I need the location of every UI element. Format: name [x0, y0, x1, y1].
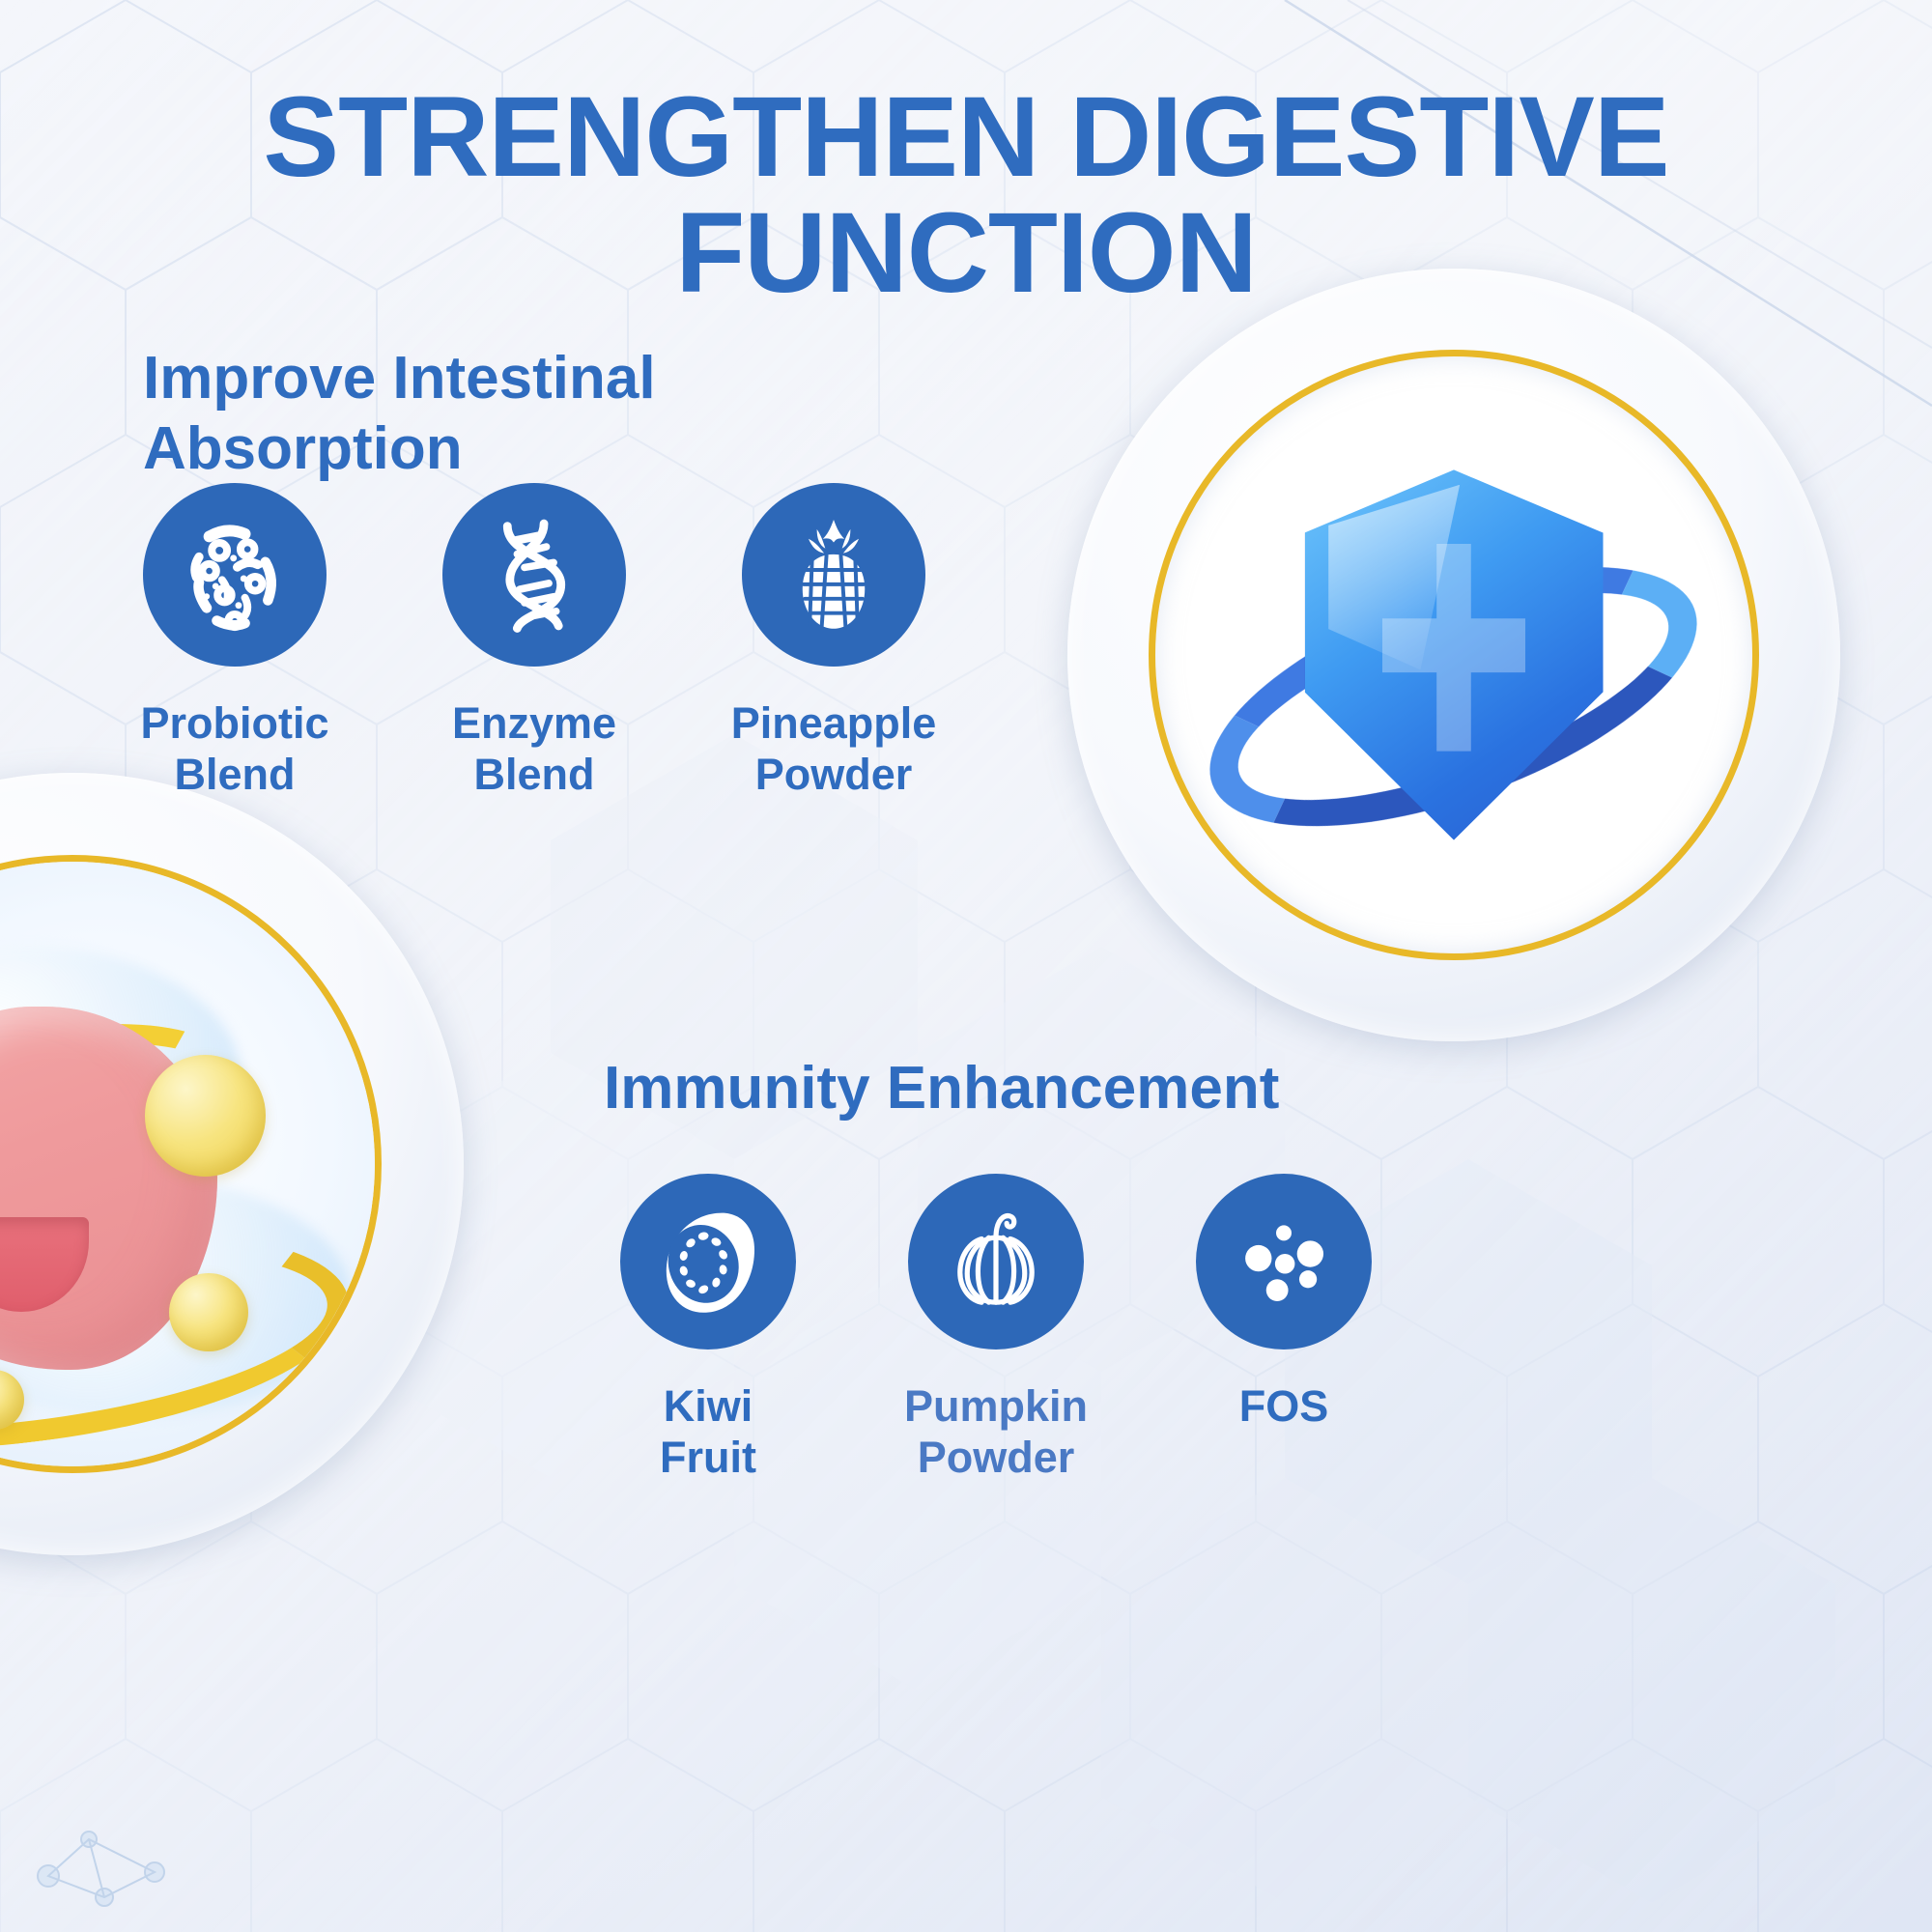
kiwi-fruit-icon [620, 1174, 796, 1350]
medallion-inner-disc [0, 855, 382, 1473]
softgel-capsule [169, 1273, 247, 1351]
ingredient-label: Enzyme Blend [452, 697, 616, 800]
ingredient-row-absorption: Probiotic Blend Enzyme Blend [140, 483, 928, 800]
ingredient-label: Probiotic Blend [140, 697, 328, 800]
pumpkin-icon [908, 1174, 1084, 1350]
molecule-decoration-icon [19, 1770, 203, 1915]
section-heading-absorption: Improve Intestinal Absorption [143, 343, 656, 484]
ingredient-label: FOS [1239, 1380, 1329, 1432]
pineapple-icon [742, 483, 925, 667]
ingredient-pumpkin-powder[interactable]: Pumpkin Powder [901, 1174, 1091, 1483]
probiotic-bacteria-icon [143, 483, 327, 667]
ingredient-enzyme-blend[interactable]: Enzyme Blend [440, 483, 629, 800]
ingredient-row-immunity: Kiwi Fruit Pumpkin Powder [613, 1174, 1378, 1483]
molecule-dots-icon [1196, 1174, 1372, 1350]
ingredient-pineapple-powder[interactable]: Pineapple Powder [739, 483, 928, 800]
page-title: STRENGTHEN DIGESTIVE FUNCTION [0, 79, 1932, 312]
ingredient-kiwi-fruit[interactable]: Kiwi Fruit [613, 1174, 803, 1483]
immunity-shield-medallion [1067, 269, 1840, 1041]
ingredient-probiotic-blend[interactable]: Probiotic Blend [140, 483, 329, 800]
ingredient-fos[interactable]: FOS [1189, 1174, 1378, 1483]
stomach-artwork [0, 862, 375, 1466]
ingredient-label: Kiwi Fruit [660, 1380, 756, 1483]
ingredient-label: Pineapple Powder [731, 697, 937, 800]
dna-helix-icon [442, 483, 626, 667]
shield-gloss [1328, 485, 1460, 670]
section-heading-immunity: Immunity Enhancement [604, 1053, 1279, 1123]
ingredient-label: Pumpkin Powder [904, 1380, 1088, 1483]
softgel-capsule [145, 1055, 266, 1176]
shield-artwork [1155, 356, 1752, 953]
medallion-inner-disc [1149, 350, 1759, 960]
